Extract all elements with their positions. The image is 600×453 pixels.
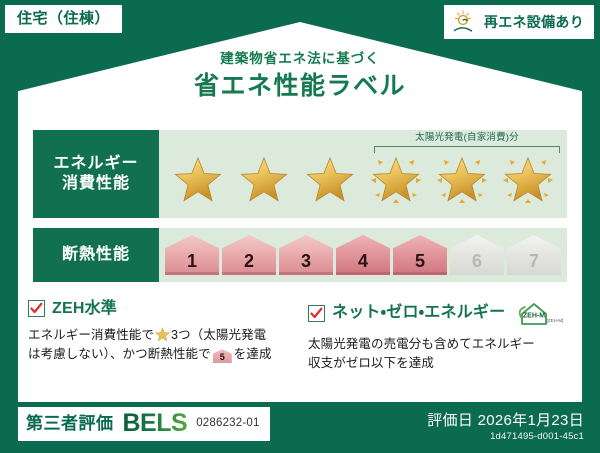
criterion-net-zero-energy: ネット・ゼロ・エネルギー ZEH-M [ZEH-M] 太陽光発電の売電分も含めて…	[308, 300, 572, 374]
criterion-title: ZEH水準	[52, 301, 117, 317]
evaluation-meta-block: 評価日 2026年1月23日 1d471495-d001-45c1	[427, 412, 584, 443]
insulation-performance-row: 断熱性能 1 2 3 4 5 6 7	[33, 228, 567, 282]
energy-performance-label-cell: エネルギー 消費性能	[33, 130, 159, 218]
sun-solar-icon	[452, 9, 478, 35]
criterion-header: ZEH水準	[28, 300, 292, 317]
checkmark-icon	[28, 300, 45, 317]
svg-text:ZEH-M: ZEH-M	[523, 313, 545, 320]
star-icon	[372, 156, 420, 204]
evaluation-date: 評価日 2026年1月23日	[427, 412, 584, 430]
star-rating	[159, 150, 567, 210]
criteria-section: ZEH水準 エネルギー消費性能で 3つ（太陽光発電 は考慮しない）、かつ断熱性能…	[28, 300, 572, 374]
bels-logo: BELS	[123, 411, 188, 436]
star-icon	[155, 327, 170, 342]
zeh-m-logo-icon: ZEH-M [ZEH-M]	[513, 300, 565, 326]
criterion-text-part1: エネルギー消費性能で	[28, 328, 154, 342]
insulation-grade-scale: 1 2 3 4 5 6 7	[159, 228, 567, 282]
solar-bracket-label: 太陽光発電(自家消費)分	[374, 133, 560, 143]
star-icon	[504, 156, 552, 204]
star-item-solar	[498, 150, 558, 210]
bels-certification-block: 第三者評価 BELS 0286232-01	[18, 407, 270, 441]
criterion-description: 太陽光発電の売電分も含めてエネルギー 収支がゼロ以下を達成	[308, 335, 572, 374]
grade-badge: 7	[507, 235, 561, 275]
star-item	[234, 150, 294, 210]
energy-performance-label: 住宅（住棟） 再エネ設備あり 建築物省エネ法に基づく 省エネ性能ラベル	[0, 0, 600, 453]
energy-label-line2: 消費性能	[62, 174, 130, 194]
star-item-solar	[366, 150, 426, 210]
renewable-chip-label: 再エネ設備あり	[484, 15, 584, 29]
star-item-solar	[432, 150, 492, 210]
grade-badge: 3	[279, 235, 333, 275]
criterion-description: エネルギー消費性能で 3つ（太陽光発電 は考慮しない）、かつ断熱性能で5を達成	[28, 326, 292, 365]
inline-grade-badge: 5	[213, 349, 232, 363]
energy-performance-stars-area: 太陽光発電(自家消費)分	[159, 130, 567, 218]
renewable-equipment-chip: 再エネ設備あり	[444, 5, 594, 39]
svg-text:[ZEH-M]: [ZEH-M]	[547, 318, 564, 323]
document-id: 1d471495-d001-45c1	[427, 431, 584, 443]
insulation-performance-label-cell: 断熱性能	[33, 228, 159, 282]
bels-certificate-number: 0286232-01	[196, 418, 259, 430]
grade-badge: 1	[165, 235, 219, 275]
checkmark-icon	[308, 305, 325, 322]
energy-performance-row: エネルギー 消費性能 太陽光発電(自家消費)分	[33, 130, 567, 218]
criterion-header: ネット・ゼロ・エネルギー ZEH-M [ZEH-M]	[308, 300, 572, 326]
energy-label-line1: エネルギー	[53, 154, 138, 174]
grade-badge: 4	[336, 235, 390, 275]
star-icon	[306, 156, 354, 204]
criterion-text-part4: を達成	[234, 347, 272, 361]
grade-badge: 5	[393, 235, 447, 275]
star-icon	[438, 156, 486, 204]
grade-badge: 2	[222, 235, 276, 275]
grade-badge: 6	[450, 235, 504, 275]
star-item	[168, 150, 228, 210]
third-party-evaluation-label: 第三者評価	[26, 415, 114, 432]
star-icon	[240, 156, 288, 204]
criterion-title: ネット・ゼロ・エネルギー	[332, 305, 505, 321]
star-item	[300, 150, 360, 210]
criterion-text-line2: 収支がゼロ以下を達成	[308, 356, 434, 370]
criterion-text-line1: 太陽光発電の売電分も含めてエネルギー	[308, 337, 535, 351]
category-chip: 住宅（住棟）	[5, 5, 122, 33]
criterion-zeh-standard: ZEH水準 エネルギー消費性能で 3つ（太陽光発電 は考慮しない）、かつ断熱性能…	[28, 300, 292, 374]
insulation-grades-area: 1 2 3 4 5 6 7	[159, 228, 567, 282]
criterion-text-part2: 3つ（太陽光発電	[171, 328, 266, 342]
criterion-text-part3: は考慮しない）、かつ断熱性能で	[28, 347, 211, 361]
star-icon	[174, 156, 222, 204]
